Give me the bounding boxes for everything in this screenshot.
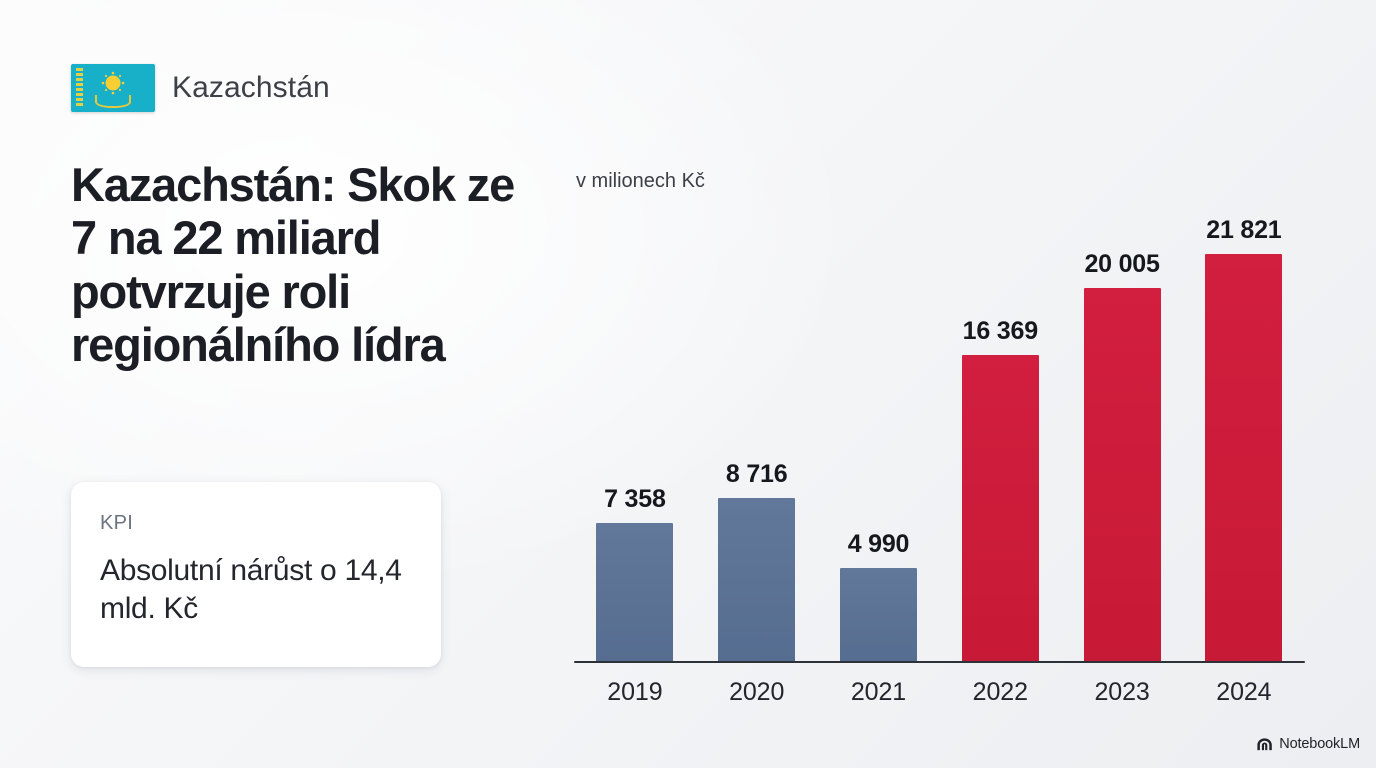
chart-bars: 7 3588 7164 99016 36920 00521 821 bbox=[574, 223, 1305, 661]
chart-bar-slot: 20 005 bbox=[1061, 223, 1183, 661]
chart-bar-slot: 4 990 bbox=[818, 223, 940, 661]
chart-bar-value-label: 20 005 bbox=[1084, 250, 1159, 279]
chart-bar-value-label: 7 358 bbox=[604, 485, 666, 514]
chart-bar-value-label: 16 369 bbox=[963, 317, 1038, 346]
chart-bar-slot: 16 369 bbox=[939, 223, 1061, 661]
flag-ornament-stripe bbox=[76, 68, 83, 108]
kpi-label: KPI bbox=[100, 512, 412, 535]
chart-bar-value-label: 21 821 bbox=[1206, 216, 1281, 245]
kpi-value: Absolutní nárůst o 14,4 mld. Kč bbox=[100, 552, 412, 628]
chart-x-tick-label: 2019 bbox=[574, 678, 696, 707]
kpi-card: KPI Absolutní nárůst o 14,4 mld. Kč bbox=[71, 482, 441, 667]
chart-unit-label: v milionech Kč bbox=[576, 170, 705, 193]
chart-bar: 8 716 bbox=[718, 498, 795, 661]
bar-chart: v milionech Kč 7 3588 7164 99016 36920 0… bbox=[574, 160, 1314, 705]
notebooklm-watermark: NotebookLM bbox=[1256, 736, 1360, 752]
chart-x-tick-label: 2020 bbox=[696, 678, 818, 707]
chart-x-tick-labels: 201920202021202220232024 bbox=[574, 678, 1305, 707]
chart-x-axis-line bbox=[574, 661, 1305, 664]
chart-bar-value-label: 4 990 bbox=[848, 530, 910, 559]
country-name: Kazachstán bbox=[172, 71, 330, 105]
chart-bar: 7 358 bbox=[596, 523, 673, 660]
left-column: Kazachstán Kazachstán: Skok ze 7 na 22 m… bbox=[71, 62, 541, 371]
notebooklm-label: NotebookLM bbox=[1279, 736, 1360, 752]
chart-bar: 21 821 bbox=[1205, 254, 1282, 661]
chart-x-tick-label: 2022 bbox=[939, 678, 1061, 707]
chart-bar: 20 005 bbox=[1084, 288, 1161, 661]
flag-eagle-icon bbox=[95, 95, 131, 108]
chart-bar: 16 369 bbox=[962, 355, 1039, 660]
chart-x-tick-label: 2023 bbox=[1061, 678, 1183, 707]
chart-x-tick-label: 2021 bbox=[818, 678, 940, 707]
chart-bar-slot: 7 358 bbox=[574, 223, 696, 661]
country-header: Kazachstán bbox=[71, 62, 541, 114]
chart-x-tick-label: 2024 bbox=[1183, 678, 1305, 707]
chart-bar-slot: 21 821 bbox=[1183, 223, 1305, 661]
kazakhstan-flag-icon bbox=[71, 64, 155, 112]
flag-sun-icon bbox=[106, 76, 121, 91]
chart-bar-value-label: 8 716 bbox=[726, 460, 788, 489]
notebooklm-icon bbox=[1256, 737, 1273, 752]
page-title: Kazachstán: Skok ze 7 na 22 miliard potv… bbox=[71, 158, 531, 371]
chart-plot-area: 7 3588 7164 99016 36920 00521 821 bbox=[574, 222, 1314, 663]
chart-bar: 4 990 bbox=[840, 568, 917, 661]
chart-bar-slot: 8 716 bbox=[696, 223, 818, 661]
slide-root: Kazachstán Kazachstán: Skok ze 7 na 22 m… bbox=[0, 0, 1376, 768]
